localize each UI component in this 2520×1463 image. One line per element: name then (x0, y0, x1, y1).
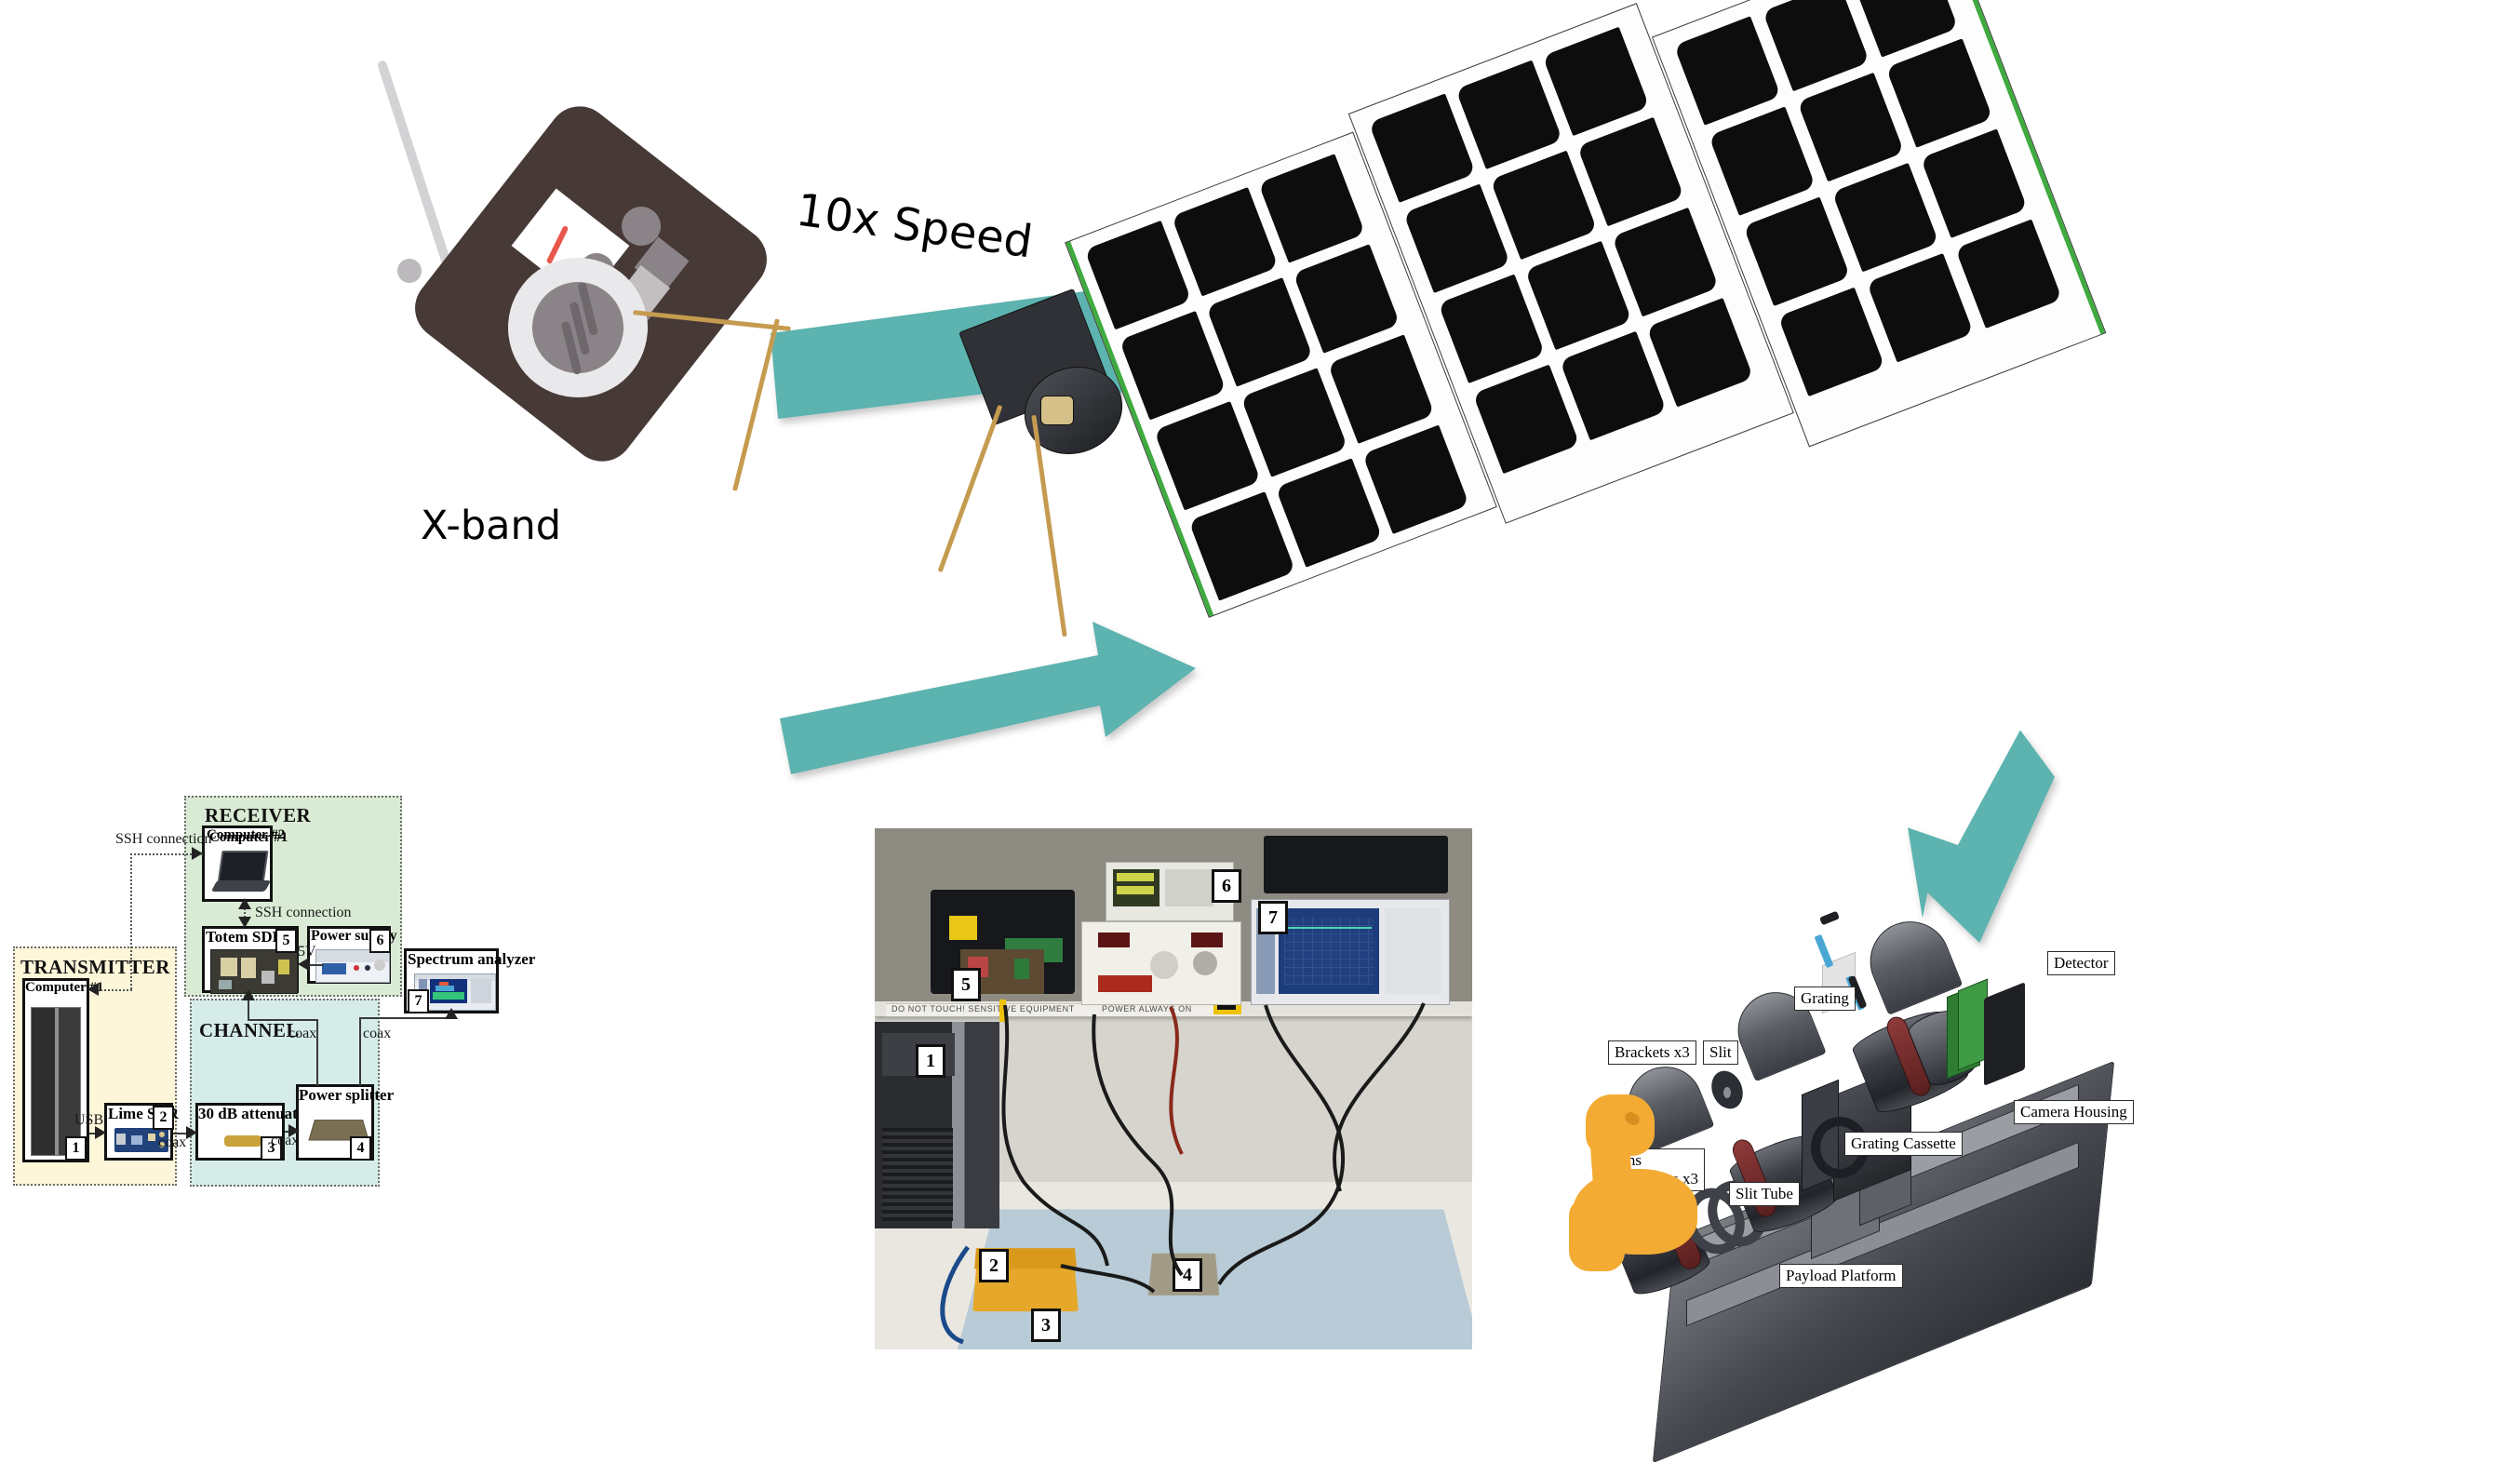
wire-coax-4-v (359, 1017, 361, 1086)
bicep-fist (1586, 1094, 1655, 1156)
payload-aperture (1040, 396, 1074, 425)
device-totem-sdr-number: 5 (275, 929, 297, 953)
camera-housing-part (1984, 982, 2025, 1086)
wire-coax-3-h (248, 1019, 318, 1021)
device-spectrum-analyzer-label: Spectrum analyzer (408, 950, 535, 969)
radio-icon (372, 88, 763, 489)
device-spectrum-analyzer-number: 7 (408, 989, 429, 1013)
label-brackets: Brackets x3 (1608, 1040, 1696, 1065)
wire-ssh-to-pc1 (93, 989, 132, 991)
flexed-biceps-icon (1552, 1087, 1738, 1273)
sdr-board-icon (210, 949, 298, 994)
attenuator-icon (224, 1135, 261, 1147)
photo-totem-parts-2 (1014, 959, 1029, 979)
wire-coax-3-up (248, 999, 249, 1021)
power-supply-icon (315, 949, 390, 983)
label-grating-cassette: Grating Cassette (1844, 1132, 1963, 1156)
zone-transmitter-title: TRANSMITTER (20, 956, 170, 979)
label-slit-tube: Slit Tube (1729, 1182, 1800, 1206)
xband-label: X-band (421, 503, 561, 549)
photo-callout-6: 6 (1212, 869, 1241, 903)
arrowhead-coax-1 (186, 1126, 197, 1139)
photo-psu-keypad (1165, 869, 1213, 906)
device-computer-2-label: Computer #2 (207, 827, 285, 843)
arrowhead-ssh-down (238, 917, 251, 928)
device-power-supply-number: 6 (369, 929, 391, 953)
device-power-splitter-label: Power splitter (299, 1086, 394, 1105)
arrowhead-coax-3 (242, 989, 255, 1000)
label-payload-platform: Payload Platform (1779, 1264, 1903, 1288)
lab-bench-photograph: DO NOT TOUCH! SENSITIVE EQUIPMENT POWER … (875, 828, 1472, 1349)
photo-sa-keypad (1385, 908, 1441, 994)
cubesat-cad-render (1098, 0, 2150, 838)
photo-psu-readout-1 (1117, 873, 1154, 881)
photo-esd-sticker (949, 916, 977, 940)
photo-callout-7: 7 (1258, 901, 1288, 934)
zone-channel-title: CHANNEL (199, 1019, 300, 1042)
label-5v: 5V (298, 944, 316, 960)
arrowhead-ssh-receiver (192, 847, 203, 860)
label-coax-3: coax (288, 1026, 316, 1042)
photo-cables (875, 996, 1472, 1349)
device-lime-sdr-number: 2 (153, 1106, 174, 1130)
photo-analog-knob-1 (1150, 951, 1178, 979)
wire-ssh-top-v (130, 853, 132, 989)
device-computer-1-number: 1 (65, 1136, 87, 1161)
label-coax-1: coax (158, 1134, 186, 1151)
device-totem-sdr-label: Totem SDR (206, 928, 284, 946)
radio-antenna-tip (397, 259, 422, 283)
photo-analog-meter-2 (1191, 933, 1223, 947)
photo-sa-trace (1286, 927, 1372, 929)
device-computer-1[interactable] (22, 978, 89, 1162)
desktop-tower-icon (31, 1007, 81, 1156)
device-power-splitter-number: 4 (350, 1136, 371, 1161)
label-ssh-top: SSH connection (115, 831, 212, 848)
label-ssh-inner: SSH connection (255, 905, 352, 921)
arrowhead-coax-4 (445, 1008, 458, 1019)
wire-coax-4-h (359, 1017, 450, 1019)
photo-psu-readout-2 (1117, 886, 1154, 894)
label-slit: Slit (1703, 1040, 1738, 1065)
label-coax-4: coax (363, 1026, 391, 1042)
arrowhead-ssh-up (238, 898, 251, 909)
zone-receiver-title: RECEIVER (205, 804, 311, 827)
optical-filter-1 (1815, 934, 1834, 968)
photo-analog-knob-2 (1193, 951, 1217, 975)
grating-spacer-1 (1819, 911, 1840, 926)
wire-coax-3-v (316, 1019, 318, 1086)
label-detector: Detector (2047, 951, 2115, 975)
bicep-lower-arm (1569, 1199, 1625, 1271)
laptop-base-icon (211, 880, 271, 892)
photo-analog-meter-1 (1098, 933, 1130, 947)
photo-analog-red-panel (1098, 975, 1152, 992)
laptop-screen-icon (217, 851, 268, 884)
radio-antenna (377, 60, 452, 266)
speed-label: 10x Speed (793, 184, 1036, 269)
label-camera-housing: Camera Housing (2014, 1100, 2134, 1124)
sdr-testbench-block-diagram: RECEIVER TRANSMITTER CHANNEL Computer #1… (7, 796, 882, 1373)
label-coax-2: coax (271, 1133, 299, 1149)
arrowhead-ssh-pc1 (87, 983, 99, 996)
label-grating: Grating (1794, 987, 1856, 1011)
label-usb: USB (74, 1112, 103, 1129)
photo-black-case (1264, 836, 1448, 893)
